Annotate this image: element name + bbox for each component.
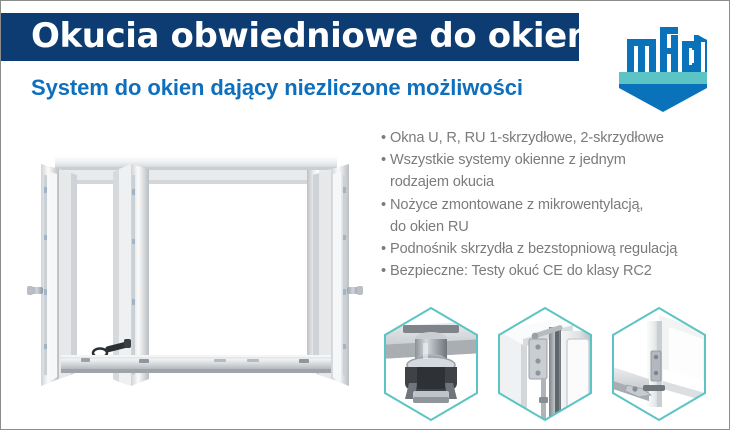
list-item: • Wszystkie systemy okienne z jednym rod… [381, 149, 721, 193]
bullet-icon: • [381, 260, 390, 282]
list-item-label: Podnośnik skrzydła z bezstopniową regula… [390, 241, 677, 257]
detail-corner-fitting [607, 305, 711, 423]
list-item-label: Wszystkie systemy okienne z jednym [390, 152, 626, 168]
feature-list: • Okna U, R, RU 1-skrzydłowe, 2-skrzydło… [381, 127, 721, 282]
detail-scissor-hinge [493, 305, 597, 423]
marketing-banner: Okucia obwiedniowe do okien System do ok… [0, 0, 730, 430]
list-item-label: Nożyce zmontowane z mikrowentylacją, [390, 197, 643, 213]
list-item-label: Bezpieczne: Testy okuć CE do klasy RC2 [390, 263, 652, 279]
page-subtitle: System do okien dający niezliczone możli… [31, 75, 523, 101]
list-item-label: Okna U, R, RU 1-skrzydłowe, 2-skrzydłowe [390, 130, 664, 146]
list-item-label-cont: do okien RU [390, 216, 721, 238]
maco-logo [614, 15, 712, 113]
left-open-sash [27, 164, 77, 386]
title-bar: Okucia obwiedniowe do okien [1, 13, 579, 61]
right-open-sash [313, 164, 363, 386]
bullet-icon: • [381, 194, 390, 216]
middle-open-sash [113, 164, 149, 386]
detail-corner-drive-bearing [379, 305, 483, 423]
detail-thumbnail-row [379, 305, 719, 423]
list-item: • Okna U, R, RU 1-skrzydłowe, 2-skrzydło… [381, 127, 721, 149]
list-item: • Nożyce zmontowane z mikrowentylacją, d… [381, 194, 721, 238]
bullet-icon: • [381, 238, 390, 260]
list-item: • Podnośnik skrzydła z bezstopniową regu… [381, 238, 721, 260]
list-item: • Bezpieczne: Testy okuć CE do klasy RC2 [381, 260, 721, 282]
page-title: Okucia obwiedniowe do okien [31, 16, 591, 56]
window-product-photo [19, 139, 371, 401]
bullet-icon: • [381, 149, 390, 171]
list-item-label-cont: rodzajem okucia [390, 171, 721, 193]
bullet-icon: • [381, 127, 390, 149]
